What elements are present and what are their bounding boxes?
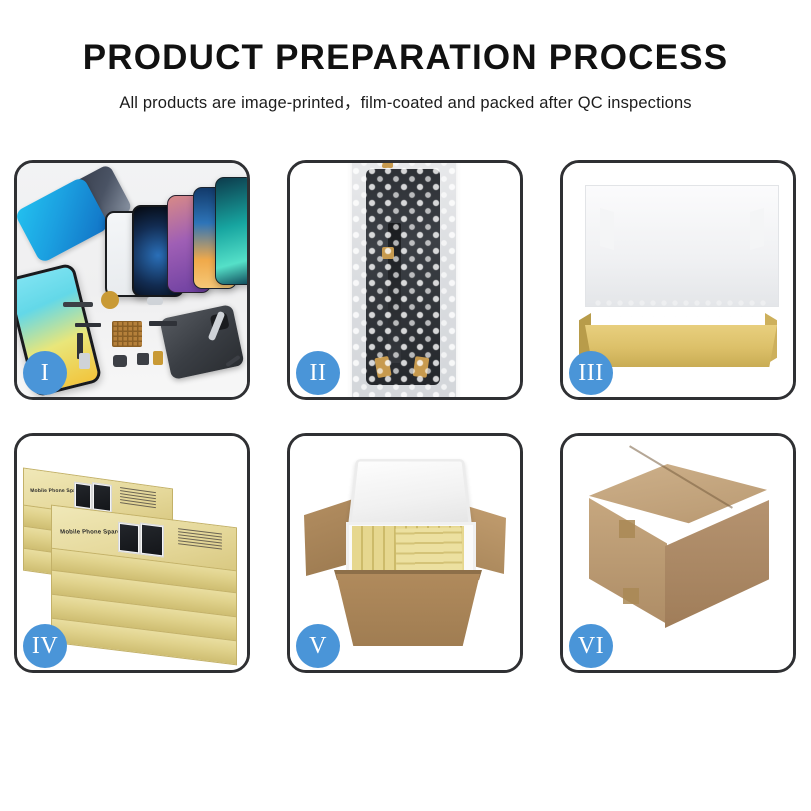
box-spec-lines-front <box>178 528 222 551</box>
step-card-4[interactable]: Mobile Phone Spare Parts Mo <box>14 433 250 673</box>
bubble-texture <box>352 163 456 397</box>
steps-grid: I II <box>14 160 797 673</box>
step-card-1[interactable]: I <box>14 160 250 400</box>
step-badge-5: V <box>296 624 340 668</box>
step-badge-6: VI <box>569 624 613 668</box>
gold-boxes-in-carton-row2 <box>396 527 463 572</box>
step-badge-4: IV <box>23 624 67 668</box>
header: PRODUCT PREPARATION PROCESS All products… <box>0 0 811 113</box>
step-card-5[interactable]: V <box>287 433 523 673</box>
box-lid-open <box>585 185 779 307</box>
battery-connector-part <box>137 353 149 365</box>
box-lid-flap-right <box>750 208 764 250</box>
carton-left-face <box>589 498 667 624</box>
tape-strip-upper <box>619 520 635 538</box>
step-badge-2: II <box>296 351 340 395</box>
box-screen-thumb-back-1 <box>74 482 92 511</box>
step-card-2[interactable]: II <box>287 160 523 400</box>
carton-body <box>336 574 480 646</box>
logic-board-chip <box>112 321 142 347</box>
step-card-3[interactable]: III <box>560 160 796 400</box>
phone-teal-wallpaper <box>215 177 247 285</box>
box-spec-lines-back <box>120 487 156 510</box>
flex-cable-1 <box>75 323 101 327</box>
box-lid-flap-left <box>600 208 614 250</box>
step-card-6[interactable]: VI <box>560 433 796 673</box>
bubble-wrap-bag <box>352 163 456 397</box>
step-badge-1: I <box>23 351 67 395</box>
step-badge-3: III <box>569 351 613 395</box>
box-screen-thumb-front-2 <box>140 523 164 558</box>
page-title: PRODUCT PREPARATION PROCESS <box>0 40 811 77</box>
tape-strip-lower <box>623 588 639 604</box>
foam-lid <box>348 459 473 530</box>
vibrator-part <box>153 351 163 365</box>
box-screen-thumb-front-1 <box>118 522 140 555</box>
sim-tray-part <box>79 353 90 369</box>
earpiece-mesh-part <box>63 302 93 307</box>
speaker-part <box>101 291 119 309</box>
camera-module-part <box>113 355 127 367</box>
page-subtitle: All products are image-printed，film-coat… <box>0 89 811 113</box>
gold-box-front <box>585 325 777 367</box>
flex-cable-3 <box>149 321 177 326</box>
box-screen-thumb-back-2 <box>92 482 112 513</box>
phone-back-housing <box>159 304 244 380</box>
connector-part <box>147 297 163 305</box>
product-preparation-infographic: PRODUCT PREPARATION PROCESS All products… <box>0 0 811 811</box>
